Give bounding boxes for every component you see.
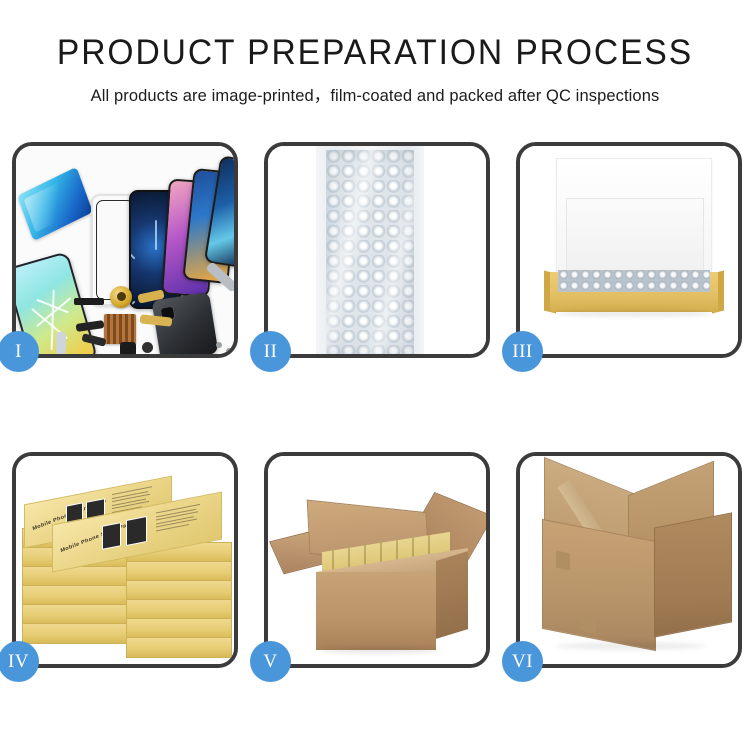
carton-right-side [436,551,468,639]
step-badge-5: V [250,641,291,682]
steps-grid: I II [0,0,750,750]
step-panel-6: VI [516,452,742,668]
step-badge-1: I [0,331,39,372]
step-panel-5: V [264,452,490,668]
earpiece-mesh-part [74,298,104,305]
step-badge-4: IV [0,641,39,682]
foam-sheet [566,198,704,274]
step-5-image [268,456,486,664]
step-1-image [16,146,234,354]
step-panel-3: III [516,142,742,358]
step-4-image: Mobile Phone Spare Parts Mobile Phone Sp… [16,456,234,664]
camera-module-part [120,342,136,354]
carton-tab-lower [580,614,596,633]
chip-grid-part [104,314,136,344]
step-badge-2: II [250,331,291,372]
screw-part-1 [216,342,222,348]
box-window-front-2 [126,516,147,546]
step-2-image [268,146,486,354]
screw-part-2 [226,348,232,354]
step-6-image [520,456,738,664]
carton-tab-upper [556,551,570,571]
bubble-wrapped-item-in-box [558,270,710,292]
button-part [142,342,153,353]
step-3-image [520,146,738,354]
step-badge-3: III [502,331,543,372]
speaker-coil-part [110,286,132,308]
step-badge-6: VI [502,641,543,682]
carton-side-face [654,512,732,637]
film-sheen [326,150,414,354]
step-panel-2: II [264,142,490,358]
product-preparation-infographic: PRODUCT PREPARATION PROCESS All products… [0,0,750,750]
step-panel-1: I [12,142,238,358]
speaker-part [56,332,66,354]
carton-front-face [316,572,436,650]
step-panel-4: Mobile Phone Spare Parts Mobile Phone Sp… [12,452,238,668]
box-window-front-1 [102,522,121,550]
carton-front-face [542,519,656,651]
